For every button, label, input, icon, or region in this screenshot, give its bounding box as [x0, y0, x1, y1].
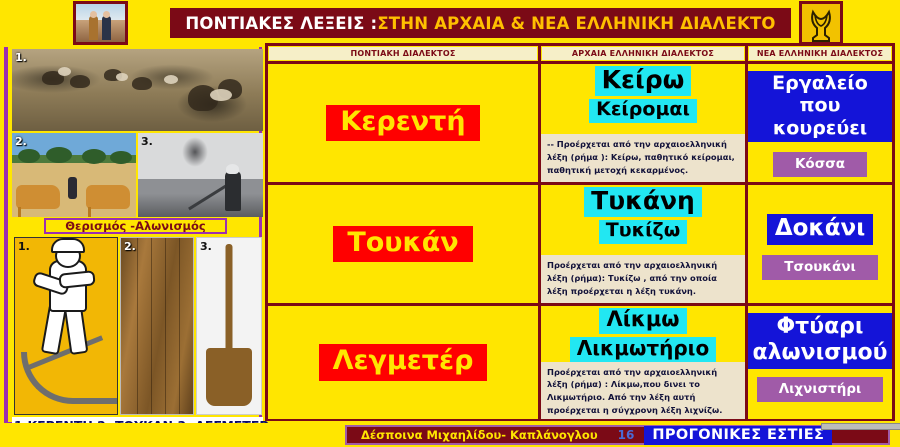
photo-number-3: 3. — [141, 135, 153, 148]
thumbnail-person-left — [89, 16, 98, 40]
pontic-word-2: Τουκάν — [333, 226, 472, 262]
column-header-modern: ΝΕΑ ΕΛΛΗΝΙΚΗ ΔΙΑΛΕΚΤΟΣ — [748, 46, 892, 61]
ancient-word-3: Λίκμω — [599, 308, 686, 334]
modern-word-1: Κόσσα — [773, 152, 867, 177]
slide-title-secondary: ΣΤΗΝ ΑΡΧΑΙΑ & ΝΕΑ ΕΛΛΗΝΙΚΗ ΔΙΑΛΕΚΤΟ — [377, 14, 775, 33]
table-row: Λεγμετέρ Λίκμω Λικμωτήριο Προέρχεται από… — [268, 306, 892, 419]
modern-meaning-2: Δοκάνι — [767, 214, 873, 245]
cell-modern-1: Εργαλείο που κουρεύει Κόσσα — [748, 64, 892, 182]
slide-footer: Δέσποινα Μιχαηλίδου- Καπλάνογλου 16 ΠΡΟΓ… — [0, 423, 900, 447]
etymology-note-2: Προέρχεται από την αρχαιοελληνική λέξη (… — [541, 255, 745, 303]
top-left-photo-thumbnail — [73, 1, 128, 45]
thumbnail-person-right — [102, 16, 111, 40]
footer-author: Δέσποινα Μιχαηλίδου- Καπλάνογλου — [347, 428, 598, 442]
etymology-note-3: Προέρχεται από την αρχαιοελληνική λέξη (… — [541, 362, 745, 419]
cell-pontic-2: Τουκάν — [268, 185, 538, 303]
cell-ancient-1: Κείρω Κείρομαι -- Προέρχεται από την αρχ… — [541, 64, 745, 182]
modern-meaning-3: Φτύαρι αλωνισμού — [748, 313, 892, 369]
photo-figure — [68, 177, 77, 199]
ancient-subword-3: Λικμωτήριο — [570, 337, 716, 362]
table-row: Κερεντή Κείρω Κείρομαι -- Προέρχεται από… — [268, 64, 892, 182]
dialect-comparison-table: ΠΟΝΤΙΑΚΗ ΔΙΑΛΕΚΤΟΣ ΑΡΧΑΙΑ ΕΛΛΗΝΙΚΗ ΔΙΑΛΕ… — [265, 43, 895, 421]
modern-word-2: Τσουκάνι — [762, 255, 877, 280]
column-header-ancient: ΑΡΧΑΙΑ ΕΛΛΗΝΙΚΗ ΔΙΑΛΕΚΤΟΣ — [541, 46, 745, 61]
ancient-word-2: Τυκάνη — [584, 187, 702, 217]
photo-number-2: 2. — [15, 135, 27, 148]
photo-number-1: 1. — [15, 51, 27, 64]
footer-page-number: 16 — [618, 428, 635, 442]
photo-scythe-drawing: 1. — [14, 237, 118, 415]
footer-placeholder-strip — [821, 423, 900, 430]
footer-brand: ΠΡΟΓΟΝΙΚΕΣ ΕΣΤΙΕΣ — [644, 426, 832, 445]
table-header-row: ΠΟΝΤΙΑΚΗ ΔΙΑΛΕΚΤΟΣ ΑΡΧΑΙΑ ΕΛΛΗΝΙΚΗ ΔΙΑΛΕ… — [268, 46, 892, 61]
photo-harvest-field: 1. — [12, 49, 263, 131]
pontic-word-3: Λεγμετέρ — [319, 344, 488, 380]
footer-bar: Δέσποινα Μιχαηλίδου- Καπλάνογλου 16 ΠΡΟΓ… — [345, 425, 890, 445]
photo-number-6: 3. — [200, 240, 212, 253]
photo-winnowing: 3. — [138, 133, 263, 217]
etymology-note-1: -- Προέρχεται από την αρχαιοελληνική λέξ… — [541, 134, 745, 182]
gallery-caption-top: Θερισμός -Αλωνισμός — [44, 218, 227, 234]
thumbnail-ground — [76, 20, 125, 42]
ancient-word-1: Κείρω — [595, 66, 692, 96]
pontic-word-1: Κερεντή — [326, 105, 479, 141]
slide-root: ΠΟΝΤΙΑΚΕΣ ΛΕΞΕΙΣ : ΣΤΗΝ ΑΡΧΑΙΑ & ΝΕΑ ΕΛΛ… — [0, 0, 900, 447]
slide-title-bar: ΠΟΝΤΙΑΚΕΣ ΛΕΞΕΙΣ : ΣΤΗΝ ΑΡΧΑΙΑ & ΝΕΑ ΕΛΛ… — [168, 6, 793, 40]
ancient-subword-1: Κείρομαι — [589, 99, 697, 123]
photo-number-4: 1. — [18, 240, 30, 253]
cell-ancient-3: Λίκμω Λικμωτήριο Προέρχεται από την αρχα… — [541, 306, 745, 419]
trophy-icon — [804, 8, 838, 44]
ancient-subword-2: Τυκίζω — [599, 220, 687, 244]
cell-pontic-3: Λεγμετέρ — [268, 306, 538, 419]
cell-ancient-2: Τυκάνη Τυκίζω Προέρχεται από την αρχαιοε… — [541, 185, 745, 303]
trophy-logo — [799, 1, 843, 45]
table-row: Τουκάν Τυκάνη Τυκίζω Προέρχεται από την … — [268, 185, 892, 303]
photo-winnowing-shovel: 3. — [196, 237, 262, 415]
modern-meaning-1: Εργαλείο που κουρεύει — [748, 71, 892, 142]
photo-number-5: 2. — [124, 240, 136, 253]
slide-title-primary: ΠΟΝΤΙΑΚΕΣ ΛΕΞΕΙΣ : — [185, 14, 377, 33]
photo-gallery-panel: 1. 2. 3. Θερισμό — [4, 47, 262, 425]
modern-word-3: Λιχνιστήρι — [757, 377, 884, 402]
cell-modern-2: Δοκάνι Τσουκάνι — [748, 185, 892, 303]
photo-threshing-board: 2. — [120, 237, 194, 415]
cell-modern-3: Φτύαρι αλωνισμού Λιχνιστήρι — [748, 306, 892, 419]
thumbnail-sky — [76, 4, 125, 20]
cell-pontic-1: Κερεντή — [268, 64, 538, 182]
column-header-pontic: ΠΟΝΤΙΑΚΗ ΔΙΑΛΕΚΤΟΣ — [268, 46, 538, 61]
photo-oxen-threshing: 2. — [12, 133, 136, 217]
